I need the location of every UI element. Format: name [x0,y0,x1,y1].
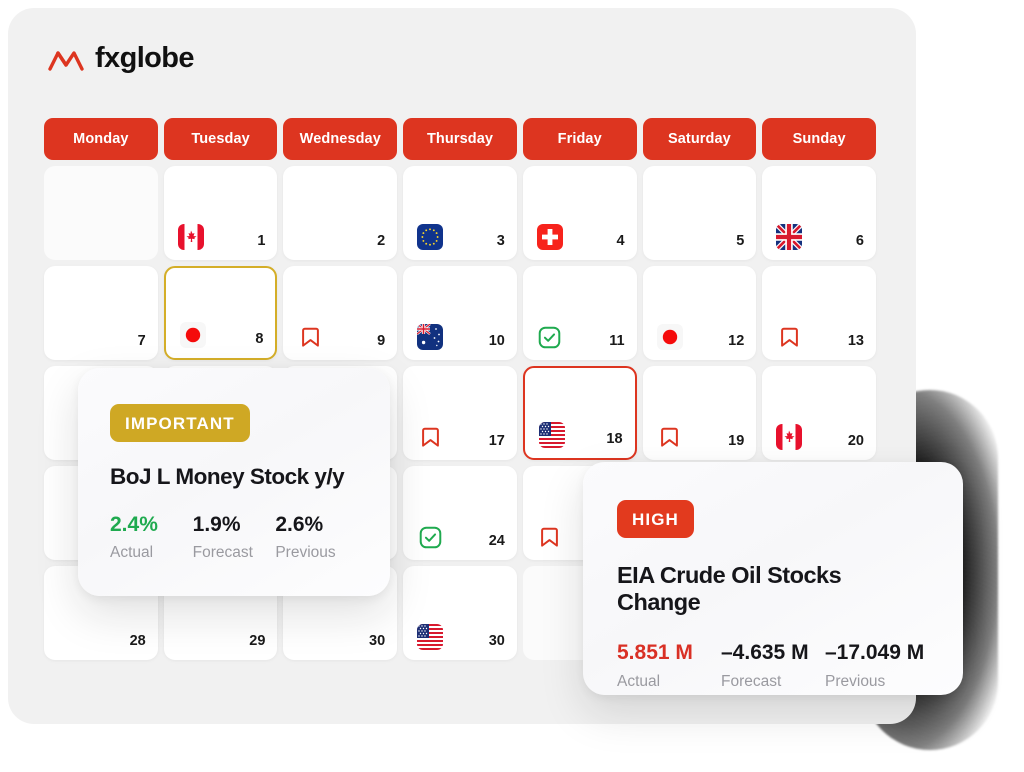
day-number: 12 [728,334,744,349]
status-badge-important: IMPORTANT [110,404,250,442]
stat-previous-value: –17.049 M [825,642,929,663]
flag-canada-icon [178,224,204,250]
day-marker [415,222,445,252]
day-number: 3 [497,234,505,249]
stat-actual-value: 2.4% [110,514,193,535]
day-marker [774,422,804,452]
weekday-header-thursday[interactable]: Thursday [403,118,517,160]
calendar-day-cell[interactable]: 19 [643,366,757,460]
day-number: 8 [255,332,263,347]
stat-previous-label: Previous [825,674,929,690]
check-icon[interactable] [418,525,443,550]
flag-uk-icon [776,224,802,250]
event-card-important[interactable]: IMPORTANT BoJ L Money Stock y/y 2.4% Act… [78,368,390,596]
stat-actual: 2.4% Actual [110,514,193,561]
event-stats: 2.4% Actual 1.9% Forecast 2.6% Previous [110,514,358,561]
calendar-day-cell[interactable]: 24 [403,466,517,560]
calendar-day-cell[interactable]: 13 [762,266,876,360]
day-marker [535,522,565,552]
stat-actual: 5.851 M Actual [617,642,721,690]
day-marker [415,622,445,652]
bookmark-icon[interactable] [537,525,562,550]
brand-logo[interactable]: fxglobe [48,44,194,73]
calendar-day-cell[interactable]: 12 [643,266,757,360]
event-title: BoJ L Money Stock y/y [110,464,358,490]
calendar-day-cell[interactable]: 10 [403,266,517,360]
stat-previous-value: 2.6% [275,514,358,535]
day-number: 30 [489,634,505,649]
weekday-header-tuesday[interactable]: Tuesday [164,118,278,160]
day-number: 28 [130,634,146,649]
day-number: 9 [377,334,385,349]
day-number: 18 [606,432,622,447]
stat-forecast-value: 1.9% [193,514,276,535]
event-title: EIA Crude Oil Stocks Change [617,562,929,616]
day-number: 7 [138,334,146,349]
event-stats: 5.851 M Actual –4.635 M Forecast –17.049… [617,642,929,690]
stat-previous-label: Previous [275,545,358,561]
weekday-header-saturday[interactable]: Saturday [643,118,757,160]
weekday-header-sunday[interactable]: Sunday [762,118,876,160]
day-marker [655,322,685,352]
stat-forecast-label: Forecast [193,545,276,561]
bookmark-icon[interactable] [657,425,682,450]
calendar-day-cell[interactable]: 17 [403,366,517,460]
flag-usa-icon [417,624,443,650]
day-number: 24 [489,534,505,549]
day-number: 20 [848,434,864,449]
calendar-day-cell[interactable]: 30 [403,566,517,660]
calendar-day-cell[interactable]: 2 [283,166,397,260]
weekday-header-monday[interactable]: Monday [44,118,158,160]
day-number: 29 [249,634,265,649]
calendar-day-cell[interactable]: 20 [762,366,876,460]
stat-forecast-label: Forecast [721,674,825,690]
day-number: 13 [848,334,864,349]
day-number: 10 [489,334,505,349]
calendar-day-cell[interactable]: 5 [643,166,757,260]
calendar-day-cell[interactable]: 8 [164,266,278,360]
day-marker [415,322,445,352]
flag-usa-icon [539,422,565,448]
day-marker [535,222,565,252]
weekday-header-friday[interactable]: Friday [523,118,637,160]
weekday-header-row: MondayTuesdayWednesdayThursdayFridaySatu… [44,118,876,160]
day-marker [535,322,565,352]
weekday-header-wednesday[interactable]: Wednesday [283,118,397,160]
day-marker [295,322,325,352]
calendar-day-cell[interactable]: 7 [44,266,158,360]
day-marker [655,422,685,452]
calendar-day-cell[interactable]: 4 [523,166,637,260]
calendar-day-cell[interactable]: 11 [523,266,637,360]
day-marker [415,422,445,452]
stat-previous: –17.049 M Previous [825,642,929,690]
flag-australia-icon [417,324,443,350]
flag-eu-icon [417,224,443,250]
day-marker [176,222,206,252]
bookmark-icon[interactable] [777,325,802,350]
status-badge-high: HIGH [617,500,694,538]
day-number: 11 [609,334,624,349]
flag-japan-icon [180,322,206,348]
calendar-day-cell[interactable]: 6 [762,166,876,260]
day-marker [178,320,208,350]
bookmark-icon[interactable] [418,425,443,450]
day-number: 6 [856,234,864,249]
day-marker [774,322,804,352]
stat-previous: 2.6% Previous [275,514,358,561]
day-marker [415,522,445,552]
fxglobe-mountain-icon [48,46,84,72]
day-number: 4 [616,234,624,249]
stat-forecast-value: –4.635 M [721,642,825,663]
day-marker [537,420,567,450]
brand-name: fxglobe [95,44,194,73]
calendar-day-cell[interactable]: 1 [164,166,278,260]
check-icon[interactable] [537,325,562,350]
stat-actual-value: 5.851 M [617,642,721,663]
day-number: 17 [489,434,505,449]
event-card-high[interactable]: HIGH EIA Crude Oil Stocks Change 5.851 M… [583,462,963,695]
flag-switzerland-icon [537,224,563,250]
stat-actual-label: Actual [110,545,193,561]
day-number: 5 [736,234,744,249]
calendar-day-cell[interactable]: 9 [283,266,397,360]
calendar-empty-cell [44,166,158,260]
calendar-day-cell[interactable]: 18 [523,366,637,460]
screenshot-root: fxglobe MondayTuesdayWednesdayThursdayFr… [0,0,1024,772]
bookmark-icon[interactable] [298,325,323,350]
stat-forecast: 1.9% Forecast [193,514,276,561]
calendar-day-cell[interactable]: 3 [403,166,517,260]
day-number: 1 [257,234,265,249]
stat-forecast: –4.635 M Forecast [721,642,825,690]
flag-canada-icon [776,424,802,450]
stat-actual-label: Actual [617,674,721,690]
day-number: 2 [377,234,385,249]
day-number: 30 [369,634,385,649]
flag-japan-icon [657,324,683,350]
day-number: 19 [728,434,744,449]
day-marker [774,222,804,252]
